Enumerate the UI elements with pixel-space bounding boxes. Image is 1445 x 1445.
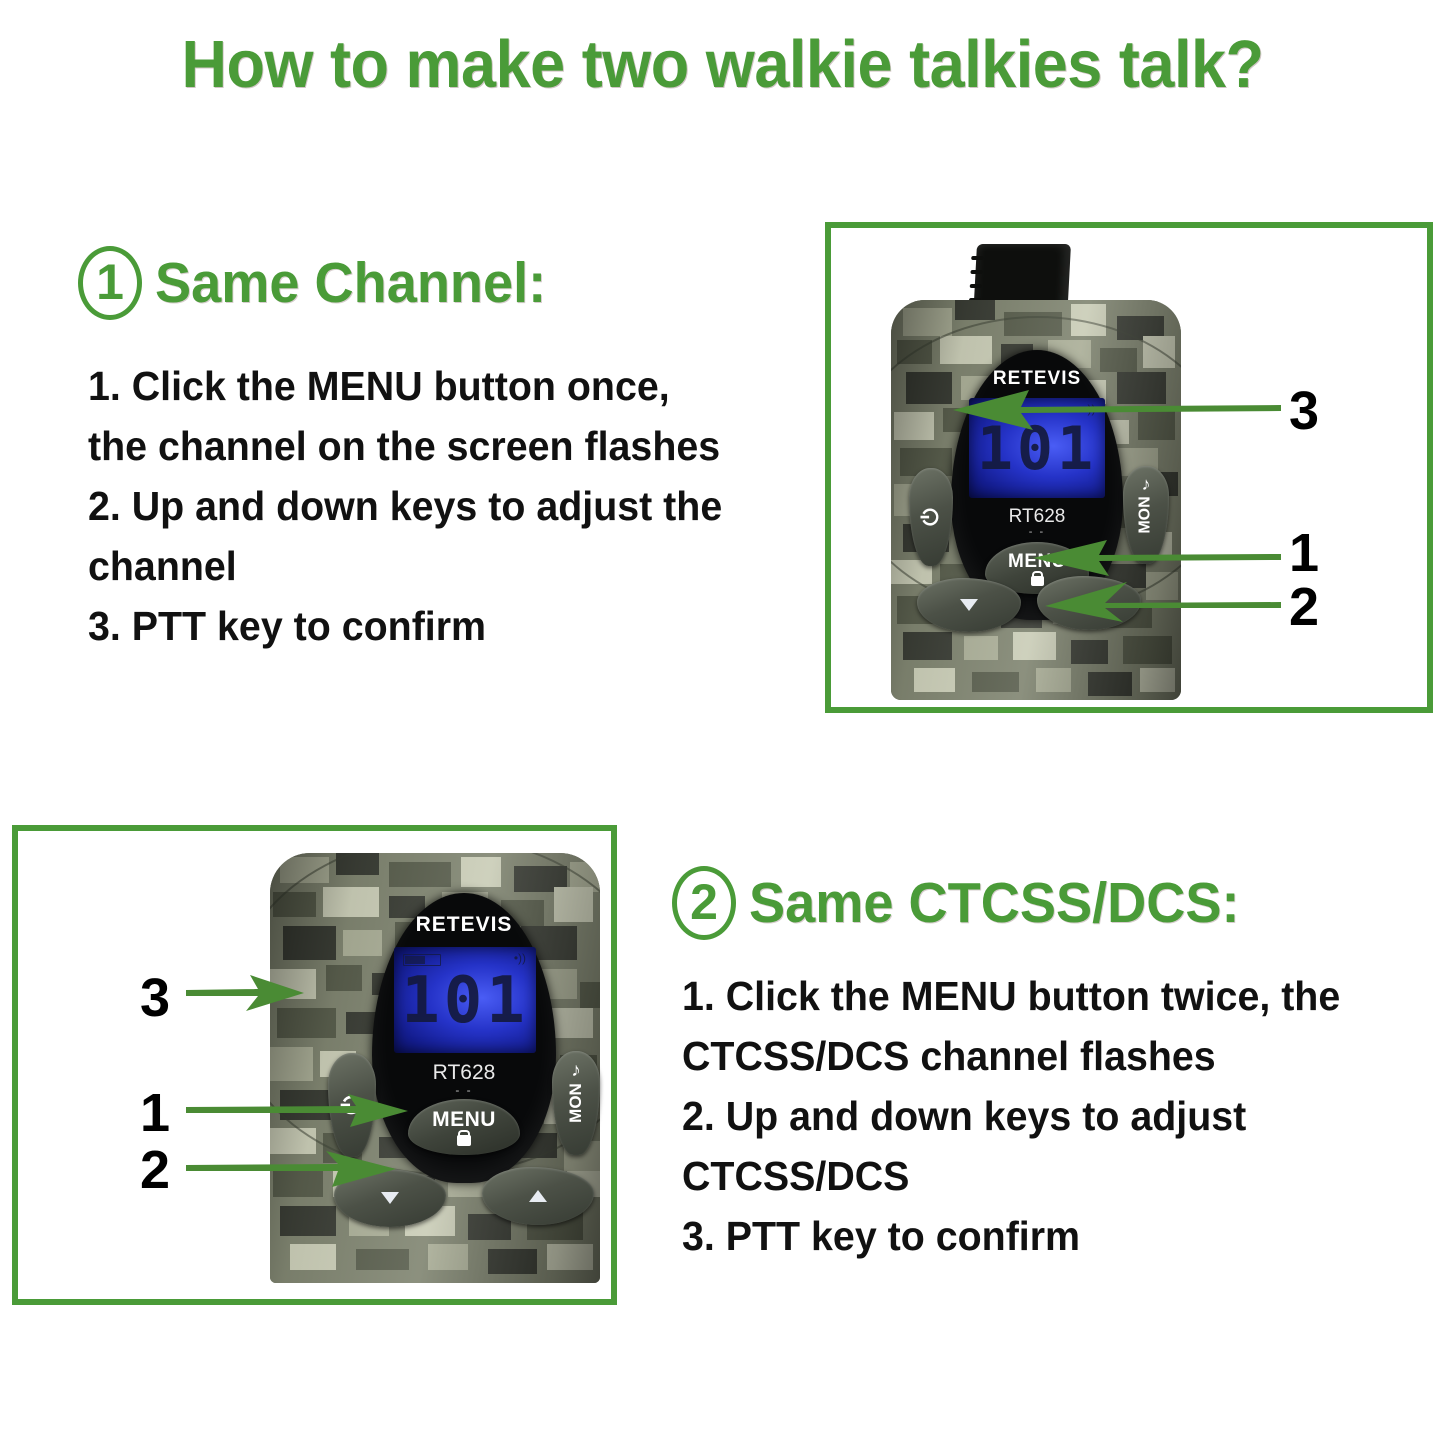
- section-2-step-line-2: CTCSS/DCS channel flashes: [682, 1026, 1340, 1086]
- callout-label-1: 1: [1289, 526, 1319, 580]
- section-1-heading: 1 Same Channel:: [78, 246, 567, 320]
- callout-label-1: 1: [140, 1086, 170, 1140]
- menu-button-label: MENU: [432, 1108, 496, 1132]
- mon-button-label: MON: [566, 1083, 586, 1123]
- section-2-step-line-3: 2. Up and down keys to adjust: [682, 1086, 1340, 1146]
- model-name: RT628: [433, 1061, 496, 1084]
- section-2-step-line-5: 3. PTT key to confirm: [682, 1206, 1340, 1266]
- walkie-talkie-device-bottom: RETEVIS •)) 101 RT628 - - MENU: [270, 853, 610, 1293]
- music-note-icon: ♪: [571, 1060, 581, 1082]
- section-1-step-line-1: 1. Click the MENU button once,: [88, 356, 722, 416]
- menu-button[interactable]: MENU: [408, 1099, 520, 1155]
- model-name: RT628: [1009, 506, 1066, 527]
- triangle-up-icon: [529, 1190, 547, 1202]
- callout-arrow-2: [186, 1149, 398, 1189]
- section-2-steps: 1. Click the MENU button twice, the CTCS…: [682, 966, 1368, 1266]
- top-right-device-panel: RETEVIS •)) 101 RT628 - - MENU: [825, 222, 1433, 713]
- page-title: How to make two walkie talkies talk?: [43, 26, 1401, 103]
- model-label: RT628 - -: [372, 1061, 556, 1097]
- callout-label-3: 3: [1289, 384, 1319, 438]
- section-1-title: Same Channel:: [155, 250, 546, 316]
- walkie-talkie-device-top: RETEVIS •)) 101 RT628 - - MENU: [891, 238, 1221, 708]
- section-1-step-line-4: channel: [88, 536, 722, 596]
- model-sub: - -: [951, 526, 1123, 538]
- callout-label-3: 3: [140, 971, 170, 1025]
- mon-button-label: MON: [1137, 496, 1155, 533]
- section-1-step-line-3: 2. Up and down keys to adjust the: [88, 476, 722, 536]
- section-2-heading: 2 Same CTCSS/DCS:: [672, 866, 1265, 940]
- callout-label-2: 2: [140, 1143, 170, 1197]
- lcd-screen: •)) 101: [394, 947, 536, 1053]
- music-note-icon: ♪: [1142, 474, 1151, 495]
- padlock-icon: [457, 1135, 471, 1146]
- lcd-channel-value: 101: [394, 965, 536, 1037]
- section-2-step-line-1: 1. Click the MENU button twice, the: [682, 966, 1340, 1026]
- section-2-step-line-4: CTCSS/DCS: [682, 1146, 1340, 1206]
- faceplate: RETEVIS •)) 101 RT628 - - MENU: [372, 893, 556, 1183]
- callout-arrow-3: [951, 386, 1281, 432]
- section-2-title: Same CTCSS/DCS:: [749, 870, 1239, 936]
- bottom-left-device-panel: RETEVIS •)) 101 RT628 - - MENU: [12, 825, 617, 1305]
- callout-arrow-1: [1031, 538, 1281, 578]
- brand-logo: RETEVIS: [372, 913, 556, 937]
- section-1-step-line-2: the channel on the screen flashes: [88, 416, 722, 476]
- section-1-steps: 1. Click the MENU button once, the chann…: [88, 356, 749, 656]
- triangle-down-icon: [960, 599, 978, 611]
- power-icon: ⏻: [918, 508, 944, 525]
- callout-arrow-1: [186, 1093, 410, 1129]
- signal-icon: •)): [514, 952, 526, 964]
- callout-arrow-2: [1043, 580, 1281, 624]
- section-1-step-line-5: 3. PTT key to confirm: [88, 596, 722, 656]
- model-label: RT628 - -: [951, 506, 1123, 538]
- section-2-badge: 2: [672, 866, 736, 940]
- infographic-canvas: How to make two walkie talkies talk? 1 S…: [0, 0, 1445, 1445]
- section-1-badge: 1: [78, 246, 142, 320]
- callout-arrow-3: [186, 973, 306, 1013]
- callout-label-2: 2: [1289, 580, 1319, 634]
- triangle-down-icon: [381, 1192, 399, 1204]
